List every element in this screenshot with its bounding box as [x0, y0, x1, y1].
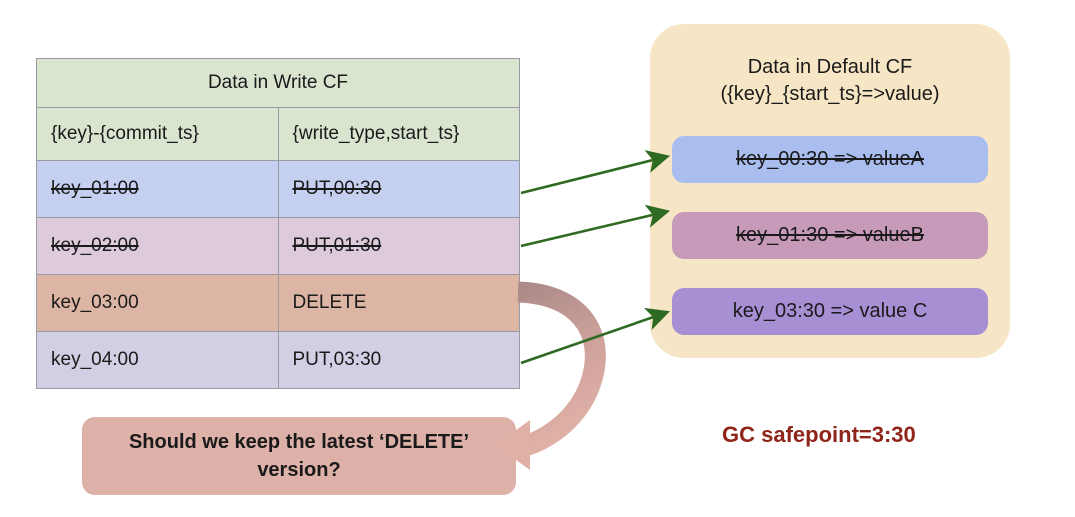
- delete-question-callout: Should we keep the latest ‘DELETE’ versi…: [82, 417, 516, 495]
- cell-key: key_03:00: [37, 275, 279, 332]
- cell-write: PUT,00:30: [278, 161, 520, 218]
- write-cf-title-row: Data in Write CF: [37, 59, 520, 108]
- cell-key: key_02:00: [37, 218, 279, 275]
- default-cf-entry: key_01:30 => valueB: [672, 212, 988, 259]
- default-cf-entry-text: key_01:30 => valueB: [736, 224, 924, 247]
- default-cf-entry-text: key_03:30 => value C: [733, 300, 928, 323]
- column-header-key: {key}-{commit_ts}: [37, 108, 279, 161]
- default-cf-panel: Data in Default CF ({key}_{start_ts}=>va…: [650, 24, 1010, 358]
- cell-key: key_04:00: [37, 332, 279, 389]
- default-cf-entry-text: key_00:30 => valueA: [736, 148, 924, 171]
- default-cf-entry: key_03:30 => value C: [672, 288, 988, 335]
- cell-write: PUT,03:30: [278, 332, 520, 389]
- cell-write: PUT,01:30: [278, 218, 520, 275]
- default-cf-entry: key_00:30 => valueA: [672, 136, 988, 183]
- cell-write: DELETE: [278, 275, 520, 332]
- write-cf-header-row: {key}-{commit_ts} {write_type,start_ts}: [37, 108, 520, 161]
- column-header-write-type: {write_type,start_ts}: [278, 108, 520, 161]
- link-arrow-row2: [521, 212, 665, 246]
- write-cf-table: Data in Write CF {key}-{commit_ts} {writ…: [36, 58, 520, 389]
- write-cf-title: Data in Write CF: [37, 59, 520, 108]
- link-arrow-row4: [521, 313, 665, 363]
- table-row: key_02:00 PUT,01:30: [37, 218, 520, 275]
- table-row: key_04:00 PUT,03:30: [37, 332, 520, 389]
- gc-safepoint-label: GC safepoint=3:30: [722, 422, 916, 448]
- cell-key: key_01:00: [37, 161, 279, 218]
- table-row: key_03:00 DELETE: [37, 275, 520, 332]
- table-row: key_01:00 PUT,00:30: [37, 161, 520, 218]
- link-arrow-row1: [521, 157, 665, 193]
- default-cf-title: Data in Default CF ({key}_{start_ts}=>va…: [650, 54, 1010, 108]
